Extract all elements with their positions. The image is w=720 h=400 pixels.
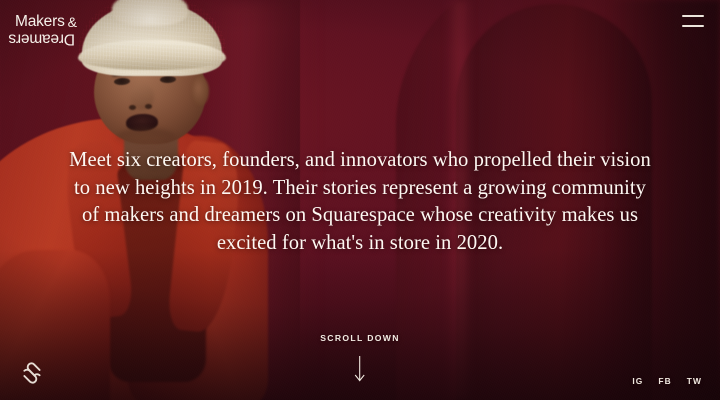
hamburger-line-2 — [682, 25, 704, 27]
scroll-down-label: SCROLL DOWN — [320, 333, 400, 343]
twitter-link[interactable]: TW — [687, 376, 702, 386]
squarespace-logo-icon[interactable] — [19, 360, 45, 386]
social-links: IG FB TW — [632, 376, 702, 386]
hero-overlay-ui: Makers & Dreamers Meet six creators, fou… — [0, 0, 720, 400]
hamburger-line-1 — [682, 15, 704, 17]
arrow-down-icon — [354, 356, 367, 382]
hamburger-menu-icon[interactable] — [682, 15, 704, 27]
site-logo-line-2: Dreamers — [9, 31, 75, 47]
hero-section: Makers & Dreamers Meet six creators, fou… — [0, 0, 720, 400]
site-logo[interactable]: Makers & Dreamers — [15, 14, 141, 47]
hero-headline: Meet six creators, founders, and innovat… — [64, 147, 656, 257]
scroll-down-indicator[interactable]: SCROLL DOWN — [320, 333, 400, 382]
instagram-link[interactable]: IG — [632, 376, 643, 386]
ampersand-icon: & — [68, 15, 77, 29]
site-logo-makers-text: Makers — [15, 14, 65, 30]
site-logo-line-1: Makers & — [15, 14, 141, 30]
facebook-link[interactable]: FB — [658, 376, 671, 386]
